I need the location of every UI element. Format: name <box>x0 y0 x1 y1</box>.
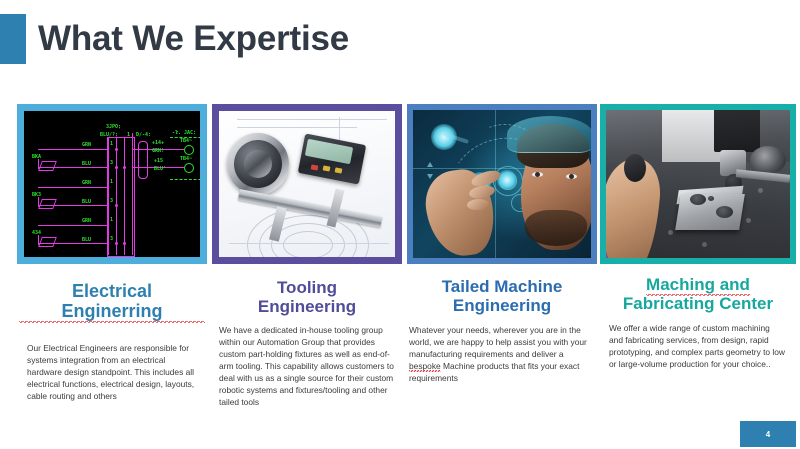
card-heading-line2: Engineering <box>258 297 356 316</box>
title-accent-bar <box>0 14 26 64</box>
schematic-label: 1 <box>127 133 130 138</box>
engineer-beard <box>525 210 587 246</box>
slide-number-badge: 4 <box>740 421 796 447</box>
bearing-bore <box>244 150 272 178</box>
card-image-tooling-calipers <box>212 104 402 264</box>
card-heading-electrical: Electrical Enginerring <box>17 281 207 323</box>
hologram-art <box>413 110 591 258</box>
schematic-label: +14+ <box>152 141 164 146</box>
expertise-card-tailed-machine[interactable]: Tailed Machine Engineering Whatever your… <box>407 104 597 385</box>
card-heading-tailed-machine: Tailed Machine Engineering <box>407 277 597 315</box>
card-heading-line1: Tailed Machine <box>442 277 563 296</box>
schematic-art: 3JPO; BLU/?; 1 D/-4: -ŀ. JAC: TB4~ TB4~ … <box>24 111 200 257</box>
schematic-label: GRN <box>82 143 91 148</box>
schematic-label: 434 <box>32 231 41 236</box>
card-body-electrical: Our Electrical Engineers are responsible… <box>17 343 207 403</box>
schematic-label: GRN! <box>152 149 164 154</box>
schematic-label: 1 <box>110 180 113 185</box>
card-heading-line1: Tooling <box>277 278 337 297</box>
engineer-helmet <box>507 116 591 153</box>
schematic-label: 3 <box>110 199 113 204</box>
schematic-label: BK3 <box>32 193 41 198</box>
card-heading-line1: Maching and <box>646 275 750 296</box>
schematic-label: BLU' <box>154 167 166 172</box>
card-body-machining: We offer a wide range of custom machinin… <box>600 323 796 371</box>
schematic-label: BLU/?; <box>100 133 118 138</box>
schematic-label: 1 <box>110 142 113 147</box>
blueprint-art <box>219 111 395 257</box>
machined-ring-part <box>750 146 786 174</box>
expertise-card-machining[interactable]: Maching and Fabricating Center We offer … <box>600 104 796 371</box>
expertise-cards-row: 3JPO; BLU/?; 1 D/-4: -ŀ. JAC: TB4~ TB4~ … <box>0 104 800 434</box>
schematic-label: +15 <box>154 159 163 164</box>
schematic-label: 3 <box>110 161 113 166</box>
page-title: What We Expertise <box>26 14 349 64</box>
schematic-label: BLU <box>82 200 91 205</box>
schematic-label: 3 <box>110 237 113 242</box>
card-body-tailed-machine: Whatever your needs, wherever you are in… <box>407 325 597 385</box>
card-heading-line2: Engineering <box>409 296 595 315</box>
machine-背景-wall <box>662 110 722 166</box>
card-heading-line1: Electrical <box>72 281 152 301</box>
machine-control-knob <box>624 154 646 182</box>
card-image-electrical-schematic: 3JPO; BLU/?; 1 D/-4: -ŀ. JAC: TB4~ TB4~ … <box>17 104 207 264</box>
card-heading-line2: Enginerring <box>19 301 205 323</box>
card-heading-machining: Maching and Fabricating Center <box>600 275 796 313</box>
card-heading-tooling: Tooling Engineering <box>212 278 402 316</box>
schematic-label: TB4~ <box>180 139 192 144</box>
card-image-holographic-engineer <box>407 104 597 264</box>
card-heading-line2: Fabricating Center <box>623 294 773 313</box>
schematic-label: TB4~ <box>180 157 192 162</box>
schematic-label: GRN <box>82 181 91 186</box>
schematic-label: GRN <box>82 219 91 224</box>
body-text-misspelled: bespoke <box>409 361 441 372</box>
body-text-part1: Whatever your needs, wherever you are in… <box>409 325 587 359</box>
expertise-card-tooling[interactable]: Tooling Engineering We have a dedicated … <box>212 104 402 409</box>
schematic-label: BLU <box>82 162 91 167</box>
expertise-card-electrical[interactable]: 3JPO; BLU/?; 1 D/-4: -ŀ. JAC: TB4~ TB4~ … <box>17 104 207 403</box>
card-image-machining-center <box>600 104 796 264</box>
schematic-label: -ŀ. JAC: <box>172 131 196 136</box>
schematic-label: 3JPO; <box>106 125 121 130</box>
card-body-tooling: We have a dedicated in-house tooling gro… <box>212 325 402 408</box>
schematic-label: 1 <box>110 218 113 223</box>
schematic-label: D/-4: <box>136 133 151 138</box>
slide-title-block: What We Expertise <box>0 14 349 64</box>
machining-art <box>606 110 790 258</box>
spindle-head <box>714 110 760 152</box>
schematic-label: BLU <box>82 238 91 243</box>
schematic-label: BKA <box>32 155 41 160</box>
